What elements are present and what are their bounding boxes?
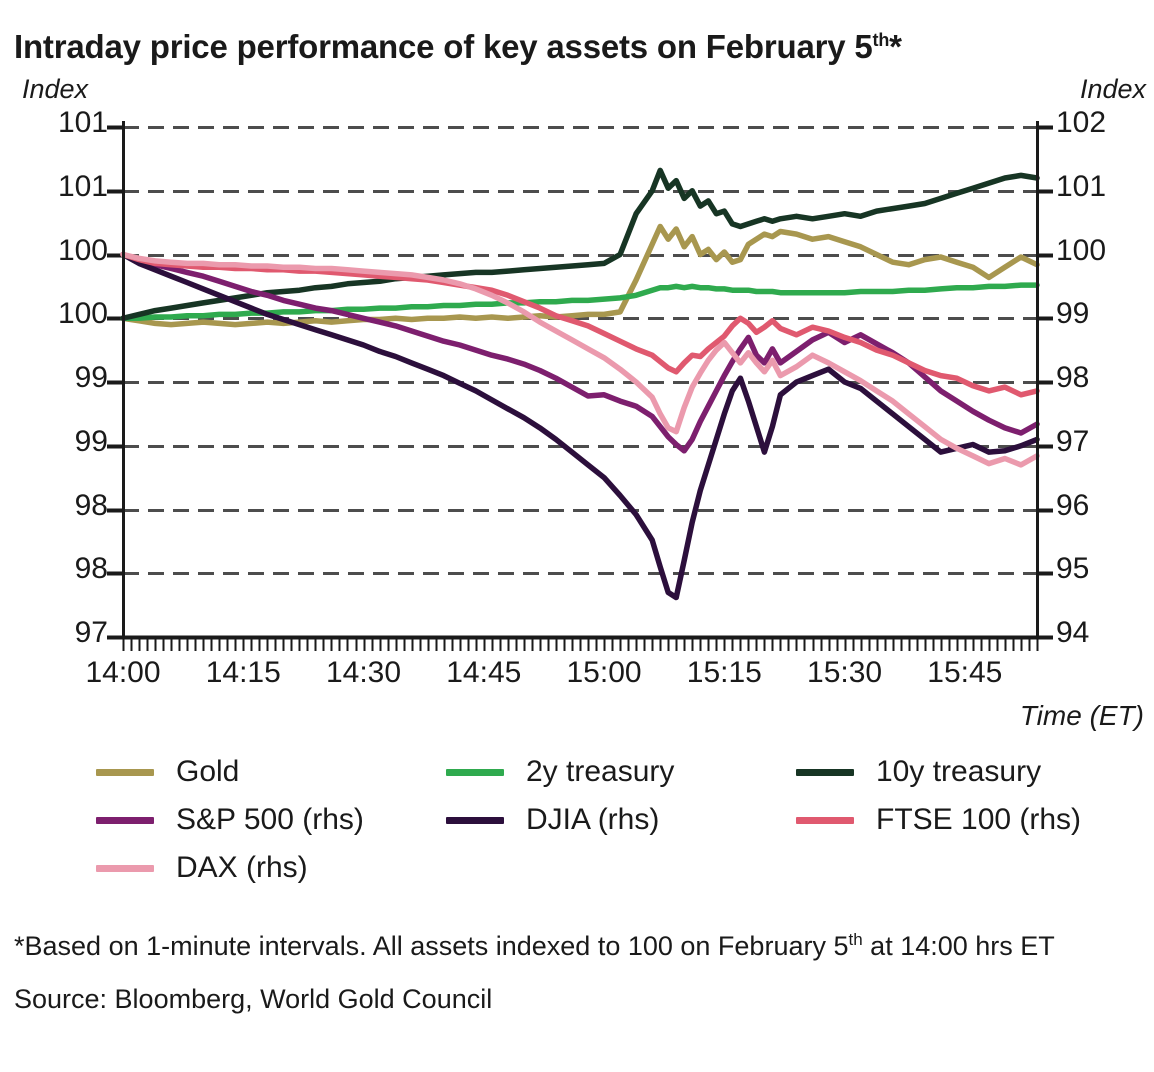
x-axis-tick-label: 14:15	[178, 656, 308, 690]
right-axis-tick-label: 99	[1056, 297, 1152, 331]
axis-frame	[123, 121, 1038, 638]
right-axis-tick-label: 101	[1056, 170, 1152, 204]
legend-color-swatch-icon	[446, 769, 504, 776]
legend-row: Gold2y treasury10y treasury	[96, 748, 1146, 796]
left-axis-tick-label: 101	[12, 170, 108, 204]
legend-item-treasury-2y[interactable]: 2y treasury	[446, 755, 796, 789]
legend-row: S&P 500 (rhs)DJIA (rhs)FTSE 100 (rhs)	[96, 796, 1146, 844]
x-axis-title: Time (ET)	[1020, 700, 1144, 732]
x-axis-tick-label: 15:15	[659, 656, 789, 690]
left-axis-tick-label: 98	[12, 552, 108, 586]
source-note: Source: Bloomberg, World Gold Council	[14, 981, 1134, 1018]
legend-item-sp500[interactable]: S&P 500 (rhs)	[96, 803, 446, 837]
right-axis-tick-label: 100	[1056, 234, 1152, 268]
gridlines	[123, 128, 1037, 638]
x-axis-tick-label: 15:30	[780, 656, 910, 690]
x-axis-tick-label: 14:45	[419, 656, 549, 690]
left-axis-tick-label: 99	[12, 361, 108, 395]
x-axis-tick-label: 15:00	[539, 656, 669, 690]
chart-plot-area	[0, 0, 1154, 760]
right-axis-tick-label: 94	[1056, 616, 1152, 650]
chart-svg	[0, 0, 1154, 760]
legend-label: DJIA (rhs)	[526, 803, 659, 837]
legend-label: S&P 500 (rhs)	[176, 803, 364, 837]
footnote-methodology: *Based on 1-minute intervals. All assets…	[14, 928, 1134, 965]
legend-item-djia[interactable]: DJIA (rhs)	[446, 803, 796, 837]
right-axis-tick-label: 97	[1056, 425, 1152, 459]
left-axis-tick-label: 100	[12, 234, 108, 268]
legend-item-gold[interactable]: Gold	[96, 755, 446, 789]
legend-color-swatch-icon	[96, 865, 154, 872]
legend-label: DAX (rhs)	[176, 851, 308, 885]
x-axis-tick-label: 14:30	[299, 656, 429, 690]
left-axis-tick-label: 97	[12, 616, 108, 650]
legend-label: 2y treasury	[526, 755, 674, 789]
x-axis-tick-label: 14:00	[58, 656, 188, 690]
legend-color-swatch-icon	[96, 769, 154, 776]
chart-legend: Gold2y treasury10y treasuryS&P 500 (rhs)…	[96, 748, 1146, 892]
legend-item-ftse100[interactable]: FTSE 100 (rhs)	[796, 803, 1146, 837]
footnote-text-b: at 14:00 hrs ET	[863, 931, 1055, 961]
legend-label: 10y treasury	[876, 755, 1041, 789]
legend-item-dax[interactable]: DAX (rhs)	[96, 851, 446, 885]
right-axis-tick-label: 96	[1056, 489, 1152, 523]
footnote-superscript: th	[848, 930, 862, 949]
legend-color-swatch-icon	[446, 817, 504, 824]
right-axis-tick-label: 98	[1056, 361, 1152, 395]
left-axis-tick-label: 101	[12, 106, 108, 140]
legend-label: Gold	[176, 755, 239, 789]
left-axis-tick-label: 98	[12, 489, 108, 523]
legend-item-treasury-10y[interactable]: 10y treasury	[796, 755, 1146, 789]
right-axis-tick-label: 95	[1056, 552, 1152, 586]
legend-color-swatch-icon	[796, 817, 854, 824]
footnote-text-a: *Based on 1-minute intervals. All assets…	[14, 931, 848, 961]
left-axis-tick-label: 99	[12, 425, 108, 459]
footnotes-block: *Based on 1-minute intervals. All assets…	[14, 928, 1134, 1019]
legend-label: FTSE 100 (rhs)	[876, 803, 1081, 837]
legend-color-swatch-icon	[96, 817, 154, 824]
x-axis-tick-label: 15:45	[900, 656, 1030, 690]
right-axis-tick-label: 102	[1056, 106, 1152, 140]
left-axis-tick-label: 100	[12, 297, 108, 331]
legend-color-swatch-icon	[796, 769, 854, 776]
legend-row: DAX (rhs)	[96, 844, 1146, 892]
